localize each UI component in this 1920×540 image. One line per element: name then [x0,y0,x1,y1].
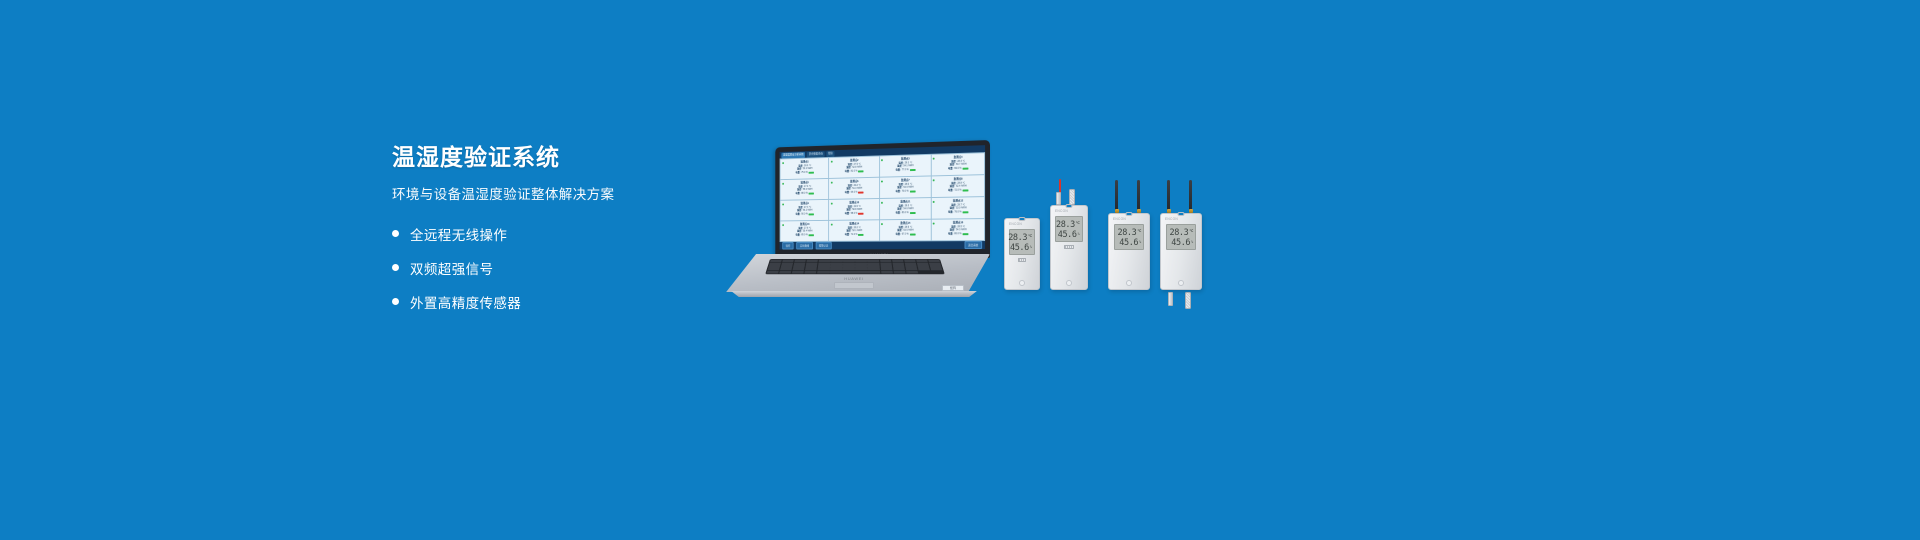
feature-item: 外置高精度传感器 [392,289,722,314]
feature-list: 全远程无线操作 双频超强信号 外置高精度传感器 [392,221,722,314]
sensor-row-value: 71.0 % [851,233,858,236]
sensor-card[interactable]: 监测点10温度:29.5 ℃湿度:50.8 %RH电量:58.0 % [829,199,878,220]
keyboard-key[interactable] [804,271,816,273]
sensor-row-label: 电量: [896,190,901,193]
sensor-status-chip [910,233,916,235]
sensor-row-value: 83.0 % [902,211,909,214]
sensor-status-chip [809,192,814,194]
sensor-card-row: 电量:81.0 % [832,169,877,173]
app-tab-help[interactable]: 帮助 [826,151,834,157]
sensor-status-chip [809,171,814,173]
sensor-row-value: 85.0 % [801,233,808,236]
sensor-card[interactable]: 监测点13温度:27.8 ℃湿度:55.4 %RH电量:85.0 % [780,221,828,241]
sensor-card-grid: 监测点1温度:28.6 ℃湿度:53.2 %RH电量:75.0 %监测点2温度:… [780,152,985,242]
sensor-row-label: 电量: [845,233,850,236]
sensor-row-value: 76.0 % [954,210,961,213]
hero-banner: 温湿度验证系统 环境与设备温湿度验证整体解决方案 全远程无线操作 双频超强信号 … [0,0,1920,540]
sensor-row-label: 电量: [795,171,800,174]
sensor-card[interactable]: 监测点9温度:27.4 ℃湿度:56.2 %RH电量:90.0 % [780,200,828,221]
lcd-humidity-unit: % [1078,230,1080,239]
sensor-status-chip [962,167,968,169]
status-dot-icon [782,224,784,226]
probe-sensor-mesh-icon [1069,189,1075,205]
footer-button-alarm-log[interactable]: 报警记录 [815,242,831,250]
sensor-status-chip [910,169,916,171]
device-power-button[interactable] [1066,280,1072,286]
footer-button-realtime-curve[interactable]: 实时曲线 [796,242,812,250]
sensor-card[interactable]: 监测点3温度:28.1 ℃湿度:54.1 %RH电量:77.0 % [880,155,931,177]
sensor-row-label: 电量: [795,192,800,195]
bullet-dot-icon [392,264,399,271]
sensor-card-row: 电量:90.0 % [783,212,827,216]
footer-button-monitor[interactable]: 监控 [782,242,794,250]
keyboard-key[interactable] [881,271,893,273]
sensor-card-row: 电量:88.0 % [783,191,827,195]
sensor-row-label: 电量: [795,233,800,236]
device-vent-slot-icon [1018,258,1027,262]
sensor-row-value: 72.0 % [954,188,961,192]
lcd-humidity-unit: % [1139,238,1141,247]
probe-sensor-mesh-icon [1185,292,1191,309]
sensor-status-chip [809,234,814,236]
page-subtitle: 环境与设备温湿度验证整体解决方案 [392,185,722,205]
sensor-card[interactable]: 监测点6温度:29.2 ℃湿度:51.3 %RH电量:64.0 % [829,178,878,199]
sensor-row-value: 81.0 % [851,169,858,172]
device-brand: ENCON [1009,222,1022,226]
lcd-temperature-value: 28.3 [1008,234,1027,243]
device-hanger-hole-icon [1066,204,1073,208]
device-lcd-display: 28.3 ℃ 45.6 % [1055,216,1082,242]
status-dot-icon [782,182,784,184]
sensor-status-chip [858,212,863,214]
feature-label: 外置高精度传感器 [410,292,521,312]
device-lcd-display: 28.3 ℃ 45.6 % [1166,224,1196,250]
sensor-row-value: 77.0 % [902,168,909,172]
lcd-temperature-line: 28.3 ℃ [1008,232,1032,243]
keyboard-key[interactable] [830,271,880,273]
sensor-card[interactable]: 监测点11温度:28.3 ℃湿度:54.6 %RH电量:83.0 % [880,198,931,219]
sensor-card-row: 电量:69.0 % [934,166,982,171]
sensor-row-label: 电量: [845,212,850,215]
sensor-card[interactable]: 监测点5温度:27.6 ℃湿度:55.0 %RH电量:88.0 % [780,179,828,200]
status-dot-icon [831,160,833,162]
laptop-trackpad[interactable] [834,282,874,289]
device-wireless-logger: ENCON 28.3 ℃ 45.6 % [1108,213,1150,290]
sensor-row-value: 69.0 % [954,167,961,171]
sensor-row-label: 电量: [845,191,850,194]
sensor-row-value: 75.0 % [801,171,808,174]
laptop-lid: 温湿度验证分析系统 历史数据查询 帮助 监测点1温度:28.6 ℃湿度:53.2… [775,140,990,258]
device-wireless-probe-logger: ENCON 28.3 ℃ 45.6 % [1160,213,1202,290]
sensor-row-label: 电量: [896,232,901,235]
sensor-row-value: 79.0 % [902,189,909,192]
lcd-humidity-value: 45.6 [1010,244,1029,253]
device-body: ENCON 28.3 ℃ 45.6 % [1004,218,1040,290]
lcd-temperature-value: 28.3 [1170,229,1189,238]
keyboard-key[interactable] [893,271,905,273]
sensor-card-row: 电量:77.0 % [882,167,928,172]
keyboard-row [766,271,944,273]
lcd-temperature-unit: ℃ [1137,227,1141,236]
sensor-status-chip [858,191,863,193]
sensor-row-value: 58.0 % [851,212,858,215]
sensor-card-row: 电量:64.0 % [832,190,877,194]
status-dot-icon [881,159,883,161]
sensor-card-row: 电量:79.0 % [882,189,928,193]
lcd-humidity-unit: % [1191,238,1193,247]
sensor-row-label: 电量: [948,189,953,192]
sensor-status-chip [910,212,916,214]
sensor-status-chip [858,233,863,235]
laptop-brand: HUAWEI [844,276,863,281]
feature-item: 全远程无线操作 [392,221,722,246]
lcd-humidity-line: 45.6 % [1058,230,1080,241]
feature-item: 双频超强信号 [392,255,722,280]
sensor-status-chip [962,233,968,235]
sensor-row-value: 90.0 % [801,212,808,215]
status-dot-icon [881,180,883,182]
device-brand: ENCON [1165,217,1178,221]
sensor-row-label: 电量: [948,167,953,171]
sensor-card[interactable]: 监测点1温度:28.6 ℃湿度:53.2 %RH电量:75.0 % [780,158,828,179]
status-dot-icon [782,162,784,164]
laptop-screen: 温湿度验证分析系统 历史数据查询 帮助 监测点1温度:28.6 ℃湿度:53.2… [780,145,985,249]
sensor-card-row: 电量:71.0 % [832,233,877,237]
keyboard-key[interactable] [779,271,792,273]
device-lcd-display: 28.3 ℃ 45.6 % [1009,229,1035,255]
sensor-card[interactable]: 监测点15温度:28.9 ℃湿度:53.5 %RH电量:67.0 % [880,220,931,241]
sensor-card-row: 电量:67.0 % [882,232,928,236]
page-title: 温湿度验证系统 [392,142,722,172]
sensor-status-chip [962,189,968,191]
sensor-card-row: 电量:83.0 % [882,211,928,215]
sensor-card-row: 电量:75.0 % [783,170,827,174]
sensor-row-value: 80.0 % [954,232,961,235]
app-footer-bar: 监控 实时曲线 报警记录 退出系统 [780,241,985,250]
lcd-temperature-unit: ℃ [1028,232,1032,241]
device-lcd-display: 28.3 ℃ 45.6 % [1114,224,1144,250]
sensor-card[interactable]: 监测点7温度:28.0 ℃湿度:53.9 %RH电量:79.0 % [880,176,931,198]
device-hanger-hole-icon [1178,212,1185,216]
sensor-row-value: 88.0 % [801,192,808,195]
status-dot-icon [831,181,833,183]
bullet-dot-icon [392,298,399,305]
sensor-card[interactable]: 监测点2温度:27.9 ℃湿度:52.8 %RH电量:81.0 % [829,156,878,178]
device-body: ENCON 28.3 ℃ 45.6 % [1108,213,1150,290]
sensor-card[interactable]: 监测点14温度:28.2 ℃湿度:52.1 %RH电量:71.0 % [829,220,878,241]
sensor-row-value: 67.0 % [902,232,909,235]
sensor-card[interactable]: 监测点4温度:28.4 ℃湿度:53.7 %RH电量:69.0 % [932,153,985,175]
sensor-row-label: 电量: [948,232,953,235]
status-dot-icon [831,223,833,225]
device-body: ENCON 28.3 ℃ 45.6 % [1050,205,1088,290]
lcd-humidity-unit: % [1030,243,1032,252]
device-vent-slot-icon [1064,245,1073,249]
lcd-temperature-unit: ℃ [1076,219,1080,228]
laptop-keyboard[interactable] [765,259,945,274]
feature-label: 全远程无线操作 [410,224,507,244]
status-dot-icon [881,201,883,203]
device-brand: ENCON [1055,209,1068,213]
device-brand: ENCON [1113,217,1126,221]
lcd-humidity-value: 45.6 [1119,239,1138,248]
sensor-card-row: 电量:76.0 % [934,210,982,214]
status-dot-icon [831,202,833,204]
lcd-temperature-line: 28.3 ℃ [1056,219,1080,230]
lcd-temperature-unit: ℃ [1189,227,1193,236]
sensor-card-row: 电量:58.0 % [832,211,877,215]
lcd-humidity-value: 45.6 [1058,231,1077,240]
footer-button-exit[interactable]: 退出系统 [964,241,982,249]
sensor-status-chip [858,170,863,172]
sensor-card[interactable]: 监测点8温度:28.8 ℃湿度:52.4 %RH电量:72.0 % [932,175,985,197]
keyboard-key[interactable] [792,271,804,273]
status-dot-icon [782,203,784,205]
probe-connector-icon [1168,292,1173,306]
sensor-card-row: 电量:85.0 % [783,233,827,237]
lcd-humidity-line: 45.6 % [1010,243,1032,254]
feature-label: 双频超强信号 [410,258,493,278]
laptop-base: HUAWEI 矩阵 [718,254,990,300]
sensor-card-row: 电量:72.0 % [934,188,982,192]
device-power-button[interactable] [1019,280,1025,286]
device-hanger-hole-icon [1019,217,1026,221]
sensor-row-value: 64.0 % [851,191,858,194]
copy-block: 温湿度验证系统 环境与设备温湿度验证整体解决方案 全远程无线操作 双频超强信号 … [392,142,722,314]
keyboard-key[interactable] [766,271,779,273]
device-body: ENCON 28.3 ℃ 45.6 % [1160,213,1202,290]
laptop-front-edge [726,291,982,297]
sensor-status-chip [809,213,814,215]
device-data-logger: ENCON 28.3 ℃ 45.6 % [1004,218,1040,290]
sensor-row-label: 电量: [948,210,953,213]
lcd-humidity-line: 45.6 % [1119,238,1141,249]
lcd-humidity-value: 45.6 [1171,239,1190,248]
sensor-row-label: 电量: [845,170,850,173]
lcd-humidity-line: 45.6 % [1171,238,1193,249]
sensor-card[interactable]: 监测点16温度:28.5 ℃湿度:54.3 %RH电量:80.0 % [932,219,985,240]
keyboard-key[interactable] [906,271,918,273]
bullet-dot-icon [392,230,399,237]
device-hanger-hole-icon [1126,212,1133,216]
keyboard-key[interactable] [817,271,829,273]
sensor-card[interactable]: 监测点12温度:28.7 ℃湿度:53.0 %RH电量:76.0 % [932,197,985,219]
lcd-temperature-value: 28.3 [1056,221,1075,230]
laptop-illustration: 温湿度验证分析系统 历史数据查询 帮助 监测点1温度:28.6 ℃湿度:53.2… [718,140,990,300]
sensor-status-chip [910,190,916,192]
sensor-status-chip [962,211,968,213]
lcd-temperature-value: 28.3 [1118,229,1137,238]
device-power-button[interactable] [1126,280,1132,286]
device-probe-logger: ENCON 28.3 ℃ 45.6 % [1050,205,1088,290]
lcd-temperature-line: 28.3 ℃ [1170,227,1194,238]
device-power-button[interactable] [1178,280,1184,286]
sensor-card-row: 电量:80.0 % [934,232,982,236]
status-dot-icon [881,223,883,225]
lcd-temperature-line: 28.3 ℃ [1118,227,1142,238]
sensor-row-label: 电量: [896,211,901,214]
probe-connector-icon [1056,192,1061,205]
sensor-row-label: 电量: [896,168,901,171]
sensor-row-label: 电量: [795,212,800,215]
laptop-sticker: 矩阵 [942,285,964,291]
